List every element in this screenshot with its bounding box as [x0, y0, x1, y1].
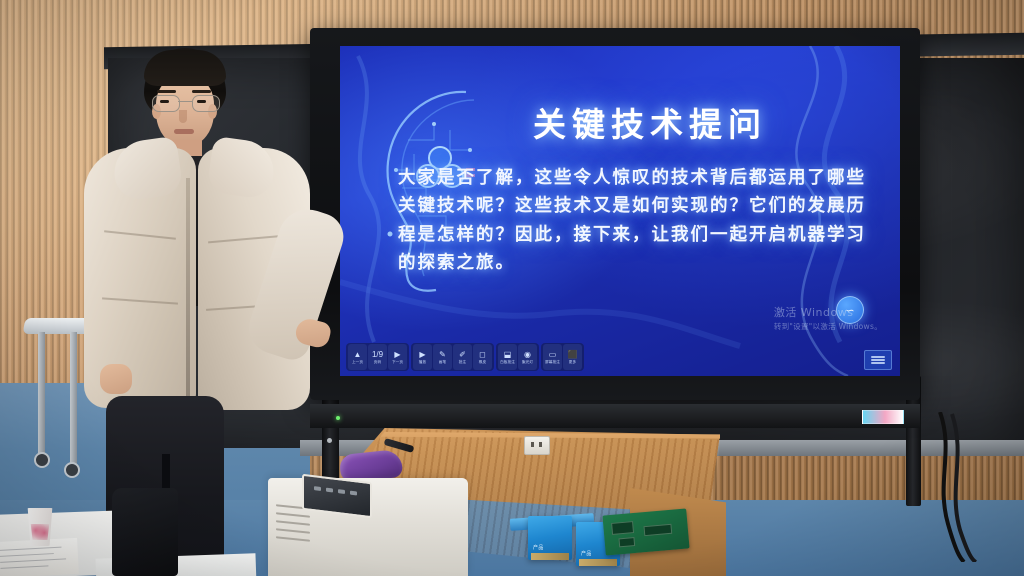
annotate-button-label: 批注 [459, 360, 466, 364]
whiteboard-button[interactable]: ⬓白板批注 [498, 344, 517, 370]
toolbar-group-annotation: ▶播放✎画笔✐批注◻橡皮 [411, 343, 494, 371]
box-gold-strip [579, 559, 617, 566]
play-button-label: 播放 [419, 360, 426, 364]
display-screen[interactable]: 关键技术提问 大家是否了解，这些令人惊叹的技术背后都运用了哪些关键技术呢？这些技… [340, 46, 900, 376]
nose [179, 110, 187, 123]
box-label: 产品 [533, 544, 544, 551]
page-indicator-label: 页码 [374, 360, 381, 364]
jacket-zipper [186, 178, 190, 402]
classroom-photo-scene: 关键技术提问 大家是否了解，这些令人惊叹的技术背后都运用了哪些关键技术呢？这些技… [0, 0, 1024, 576]
next-page-button[interactable]: ▶下一页 [388, 344, 407, 370]
eraser-button[interactable]: ◻橡皮 [473, 344, 492, 370]
mouth [174, 129, 194, 134]
play-icon: ▶ [419, 351, 425, 359]
page-indicator[interactable]: 1/9页码 [368, 344, 387, 370]
paper-line [0, 547, 61, 551]
spotlight-icon: ◉ [524, 351, 531, 359]
toolbar-group-tools: ⬓白板批注◉聚光灯 [496, 343, 539, 371]
power-cables [930, 412, 1010, 562]
stool-caster [34, 452, 50, 468]
panel-key [326, 488, 333, 493]
socket-pin [531, 442, 534, 447]
prev-page-button[interactable]: ▲上一页 [348, 344, 367, 370]
slide-title: 关键技术提问 [480, 98, 820, 146]
watermark-line-2: 转到"设置"以激活 Windows。 [774, 321, 882, 332]
play-button[interactable]: ▶播放 [413, 344, 432, 370]
toolbar-group-navigation: ▲上一页1/9页码▶下一页 [346, 343, 409, 371]
display-speaker-bar [310, 404, 920, 428]
pcb-chip [618, 537, 635, 547]
more-button[interactable]: ⬛更多 [563, 344, 582, 370]
bezel-sticker [862, 410, 904, 424]
panel-key [314, 486, 321, 491]
panel-key [338, 489, 345, 494]
lens-left [152, 95, 180, 112]
interactive-display[interactable]: 关键技术提问 大家是否了解，这些令人惊叹的技术背后都运用了哪些关键技术呢？这些技… [310, 28, 920, 428]
pcb-chip [611, 521, 634, 535]
panel-key [350, 491, 357, 496]
eye-left [160, 100, 169, 103]
vent-slot [276, 536, 310, 542]
box-gold-strip [531, 553, 569, 560]
left-hand [100, 364, 132, 394]
stool-leg [70, 332, 77, 466]
spotlight-button-label: 聚光灯 [522, 360, 533, 364]
next-page-button-label: 下一页 [392, 360, 403, 364]
next-page-icon: ▶ [394, 351, 400, 359]
eye-right [197, 100, 206, 103]
wall-socket-icon [524, 436, 550, 455]
screen-annotate-button-label: 屏幕批注 [545, 360, 560, 364]
cup-pattern [29, 524, 51, 540]
menu-bar [871, 359, 885, 361]
menu-bar [871, 362, 885, 364]
presentation-slide: 关键技术提问 大家是否了解，这些令人惊叹的技术背后都运用了哪些关键技术呢？这些技… [340, 46, 900, 376]
pcb-chip [643, 524, 672, 536]
screen-corner-menu-icon[interactable] [864, 350, 892, 370]
glasses-bridge [178, 101, 192, 102]
screen-annotate-icon: ▭ [549, 351, 557, 359]
blue-product-box-1: 产品 [528, 516, 572, 560]
whiteboard-button-label: 白板批注 [500, 360, 515, 364]
paper-line [0, 565, 48, 569]
toolbar-group-utility: ▭屏幕批注⬛更多 [541, 343, 584, 371]
paper-line [0, 558, 66, 562]
spotlight-button[interactable]: ◉聚光灯 [518, 344, 537, 370]
page-indicator-icon: 1/9 [372, 351, 383, 359]
more-icon: ⬛ [568, 351, 578, 359]
presentation-toolbar[interactable]: ▲上一页1/9页码▶下一页▶播放✎画笔✐批注◻橡皮⬓白板批注◉聚光灯▭屏幕批注⬛… [346, 342, 584, 372]
eraser-icon: ◻ [479, 351, 486, 359]
menu-bar [871, 356, 885, 358]
annotate-button[interactable]: ✐批注 [453, 344, 472, 370]
pen-button-label: 画笔 [439, 360, 446, 364]
prev-page-button-label: 上一页 [352, 360, 363, 364]
hair-fringe [144, 50, 226, 86]
windows-activation-watermark: 激活 Windows 转到"设置"以激活 Windows。 [774, 304, 882, 332]
eraser-button-label: 橡皮 [479, 360, 486, 364]
eyebrow-right [192, 90, 211, 93]
screen-annotate-button[interactable]: ▭屏幕批注 [543, 344, 562, 370]
black-backpack [112, 488, 178, 576]
more-button-label: 更多 [569, 360, 576, 364]
watermark-line-1: 激活 Windows [774, 304, 882, 320]
vent-slot [276, 512, 310, 518]
socket-pin [539, 442, 542, 447]
whiteboard-icon: ⬓ [504, 351, 512, 359]
pen-button[interactable]: ✎画笔 [433, 344, 452, 370]
green-circuit-board [602, 508, 689, 555]
vent-slot [276, 528, 310, 534]
paper-line [0, 553, 54, 557]
pen-icon: ✎ [439, 351, 446, 359]
stool-leg [38, 332, 45, 458]
box-label: 产品 [581, 550, 592, 557]
eyebrow-left [157, 90, 176, 93]
slide-body-text: 大家是否了解，这些令人惊叹的技术背后都运用了哪些关键技术呢？这些技术又是如何实现… [398, 164, 868, 277]
prev-page-icon: ▲ [354, 351, 362, 359]
power-led-icon [336, 416, 340, 420]
vent-slot [276, 520, 310, 526]
lens-right [192, 95, 220, 112]
annotate-icon: ✐ [459, 351, 466, 359]
